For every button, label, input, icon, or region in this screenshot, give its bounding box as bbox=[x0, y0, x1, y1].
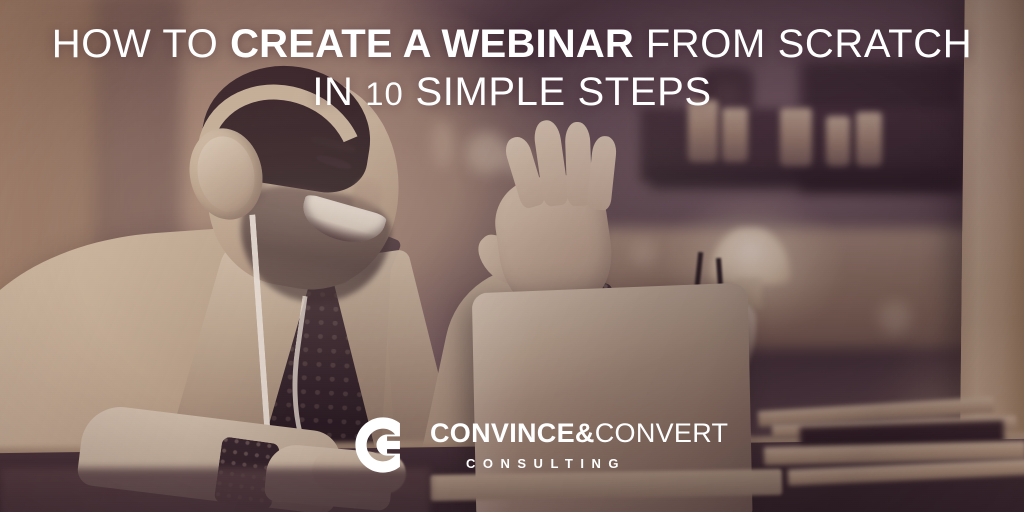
logo-name-bold: CONVINCE& bbox=[430, 418, 595, 448]
logo-name-light: CONVERT bbox=[595, 418, 729, 448]
convince-convert-c-mark-icon bbox=[352, 414, 414, 476]
webinar-promo-banner: HOW TO CREATE A WEBINAR FROM SCRATCH IN … bbox=[0, 0, 1024, 512]
logo-wordmark: CONVINCE&CONVERT CONSULTING bbox=[430, 420, 728, 471]
convince-and-convert-logo: CONVINCE&CONVERT CONSULTING bbox=[352, 414, 728, 476]
logo-tagline: CONSULTING bbox=[466, 456, 728, 471]
logo-company-name: CONVINCE&CONVERT bbox=[430, 420, 728, 447]
